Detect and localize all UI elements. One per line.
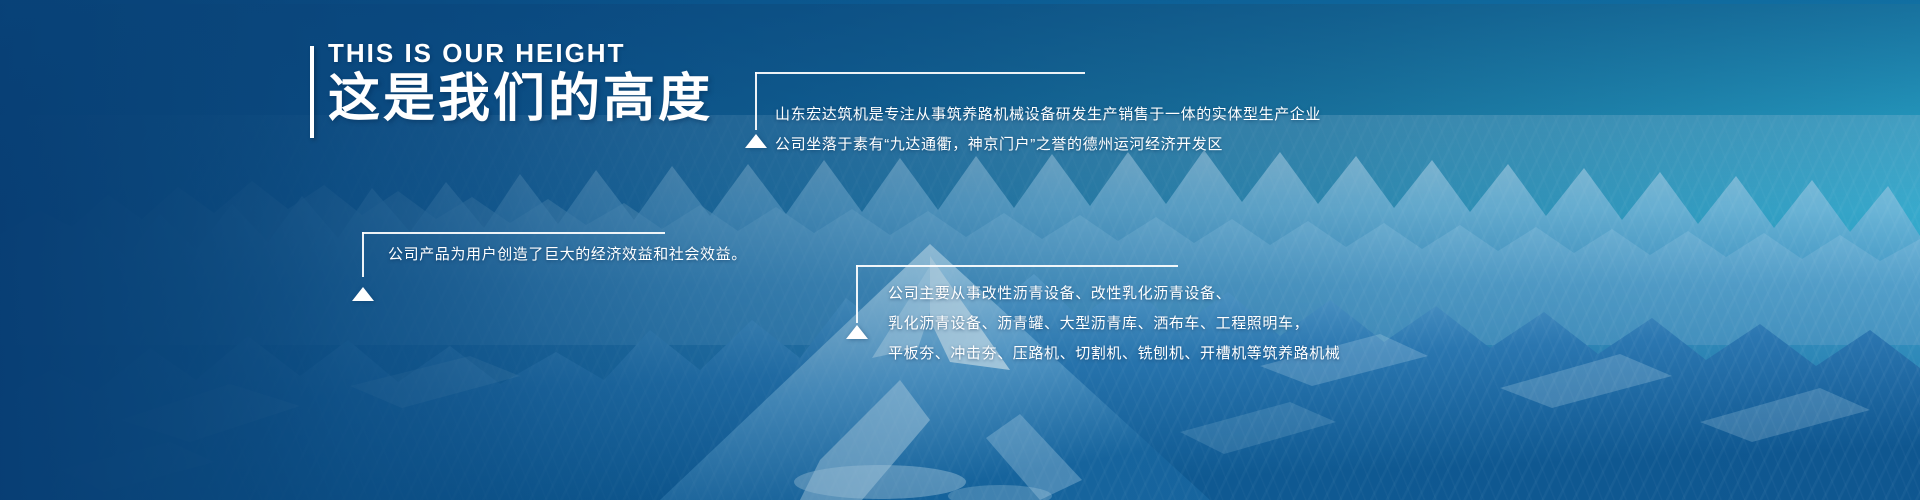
callout-line: 山东宏达筑机是专注从事筑养路机械设备研发生产销售于一体的实体型生产企业 (775, 100, 1321, 130)
bracket-horizontal-line (755, 72, 1085, 74)
callout-line: 公司产品为用户创造了巨大的经济效益和社会效益。 (388, 240, 747, 270)
triangle-up-icon (352, 287, 374, 301)
callout-text: 山东宏达筑机是专注从事筑养路机械设备研发生产销售于一体的实体型生产企业 公司坐落… (775, 100, 1321, 160)
banner-title-english: THIS IS OUR HEIGHT (328, 40, 713, 66)
banner-content: THIS IS OUR HEIGHT 这是我们的高度 山东宏达筑机是专注从事筑养… (0, 0, 1920, 500)
callout-line: 公司坐落于素有“九达通衢，神京门户”之誉的德州运河经济开发区 (775, 130, 1321, 160)
bracket-vertical-line (856, 265, 858, 323)
callout-line: 乳化沥青设备、沥青罐、大型沥青库、洒布车、工程照明车， (888, 309, 1340, 339)
hero-banner: THIS IS OUR HEIGHT 这是我们的高度 山东宏达筑机是专注从事筑养… (0, 0, 1920, 500)
callout-line: 公司主要从事改性沥青设备、改性乳化沥青设备、 (888, 279, 1340, 309)
callout-text: 公司产品为用户创造了巨大的经济效益和社会效益。 (388, 240, 747, 270)
bracket-horizontal-line (856, 265, 1178, 267)
bracket-horizontal-line (362, 232, 665, 234)
title-accent-bar (310, 46, 314, 138)
triangle-up-icon (745, 134, 767, 148)
callout-line: 平板夯、冲击夯、压路机、切割机、铣刨机、开槽机等筑养路机械 (888, 339, 1340, 369)
triangle-up-icon (846, 325, 868, 339)
bracket-vertical-line (755, 72, 757, 130)
bracket-vertical-line (362, 232, 364, 277)
callout-text: 公司主要从事改性沥青设备、改性乳化沥青设备、 乳化沥青设备、沥青罐、大型沥青库、… (888, 279, 1340, 369)
banner-title-block: THIS IS OUR HEIGHT 这是我们的高度 (310, 40, 713, 127)
banner-title-chinese: 这是我们的高度 (328, 72, 713, 127)
